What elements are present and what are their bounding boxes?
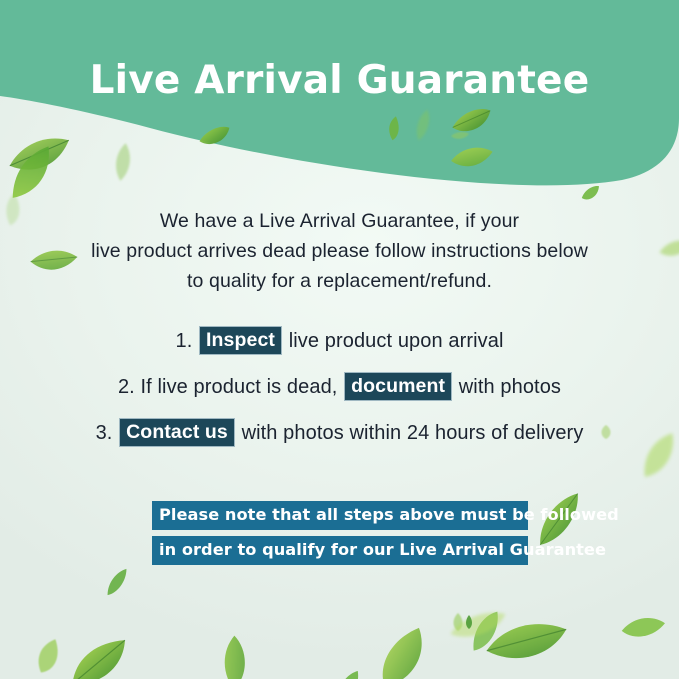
step-1: 1. Inspect live product upon arrival	[0, 318, 679, 364]
leaf-icon	[29, 637, 67, 678]
note-banner-line-1: Please note that all steps above must be…	[152, 501, 528, 530]
step-2: 2. If live product is dead, document wit…	[0, 364, 679, 410]
intro-line-2: live product arrives dead please follow …	[0, 236, 679, 266]
leaf-icon	[450, 612, 466, 632]
step-3: 3. Contact us with photos within 24 hour…	[0, 410, 679, 456]
leaf-icon	[65, 636, 133, 679]
leaf-icon	[109, 141, 136, 184]
leaf-icon	[464, 614, 474, 630]
intro-line-3: to quality for a replacement/refund.	[0, 266, 679, 296]
step-3-number: 3.	[96, 422, 113, 444]
step-3-after: with photos within 24 hours of delivery	[242, 422, 584, 444]
leaf-icon	[208, 631, 261, 679]
step-2-after: with photos	[459, 376, 561, 398]
leaf-icon	[334, 667, 362, 679]
live-arrival-guarantee-card: Live Arrival Guarantee	[0, 0, 679, 679]
step-3-highlight[interactable]: Contact us	[120, 419, 234, 446]
step-1-highlight[interactable]: Inspect	[200, 327, 281, 354]
leaf-icon	[447, 134, 495, 180]
step-2-number: 2.	[118, 376, 135, 398]
page-title: Live Arrival Guarantee	[0, 56, 679, 106]
leaf-icon	[447, 608, 509, 642]
leaf-icon	[483, 608, 569, 677]
steps-list: 1. Inspect live product upon arrival 2. …	[0, 318, 679, 456]
leaf-icon	[450, 130, 470, 140]
leaf-icon	[268, 675, 319, 679]
leaf-icon	[381, 115, 408, 143]
note-banner-line-2: in order to qualify for our Live Arrival…	[152, 536, 528, 565]
leaf-icon	[411, 106, 436, 143]
leaf-icon	[1, 120, 78, 194]
leaf-icon	[618, 606, 668, 650]
step-2-highlight[interactable]: document	[345, 373, 451, 400]
step-2-before: If live product is dead,	[141, 376, 344, 398]
leaf-icon	[448, 104, 496, 139]
step-1-after: live product upon arrival	[289, 330, 504, 352]
leaf-icon	[369, 625, 431, 679]
leaf-icon	[578, 183, 604, 205]
leaf-icon	[459, 607, 513, 657]
note-banners: Please note that all steps above must be…	[152, 501, 528, 565]
intro-line-1: We have a Live Arrival Guarantee, if you…	[0, 206, 679, 236]
leaf-icon	[196, 123, 234, 152]
step-1-number: 1.	[175, 330, 192, 352]
leaf-icon	[0, 140, 67, 206]
intro-paragraph: We have a Live Arrival Guarantee, if you…	[0, 206, 679, 296]
leaf-icon	[185, 670, 230, 679]
leaf-icon	[104, 563, 130, 600]
